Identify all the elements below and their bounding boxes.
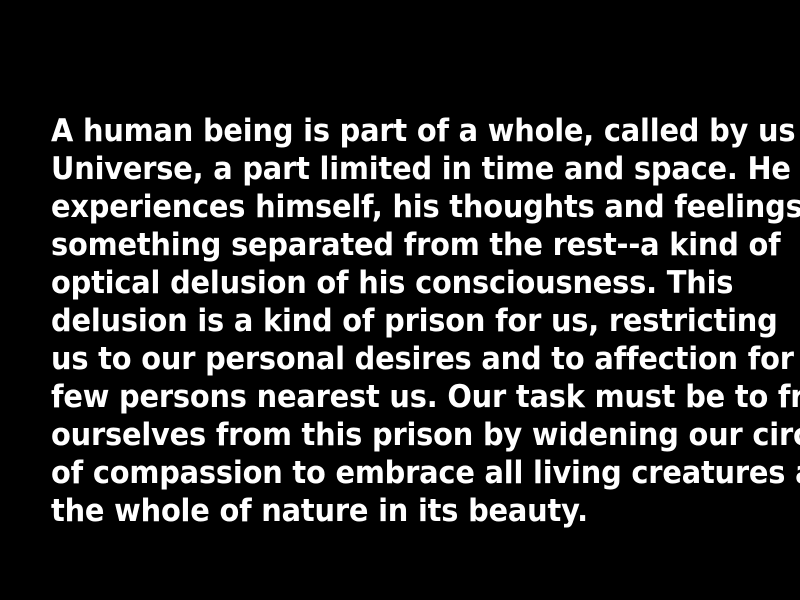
quote-slide: A human being is part of a whole, called… [0, 0, 800, 600]
quote-line: ourselves from this prison by widening o… [51, 416, 702, 454]
quote-line: Universe, a part limited in time and spa… [51, 150, 702, 188]
quote-line: optical delusion of his consciousness. T… [51, 264, 702, 302]
quote-line: few persons nearest us. Our task must be… [51, 378, 702, 416]
quote-line: of compassion to embrace all living crea… [51, 454, 702, 492]
quote-text-block: A human being is part of a whole, called… [51, 112, 751, 530]
quote-line: A human being is part of a whole, called… [51, 112, 702, 150]
quote-line: the whole of nature in its beauty. [51, 492, 702, 530]
quote-line: something separated from the rest--a kin… [51, 226, 702, 264]
quote-line: experiences himself, his thoughts and fe… [51, 188, 702, 226]
quote-line: delusion is a kind of prison for us, res… [51, 302, 702, 340]
quote-line: us to our personal desires and to affect… [51, 340, 702, 378]
